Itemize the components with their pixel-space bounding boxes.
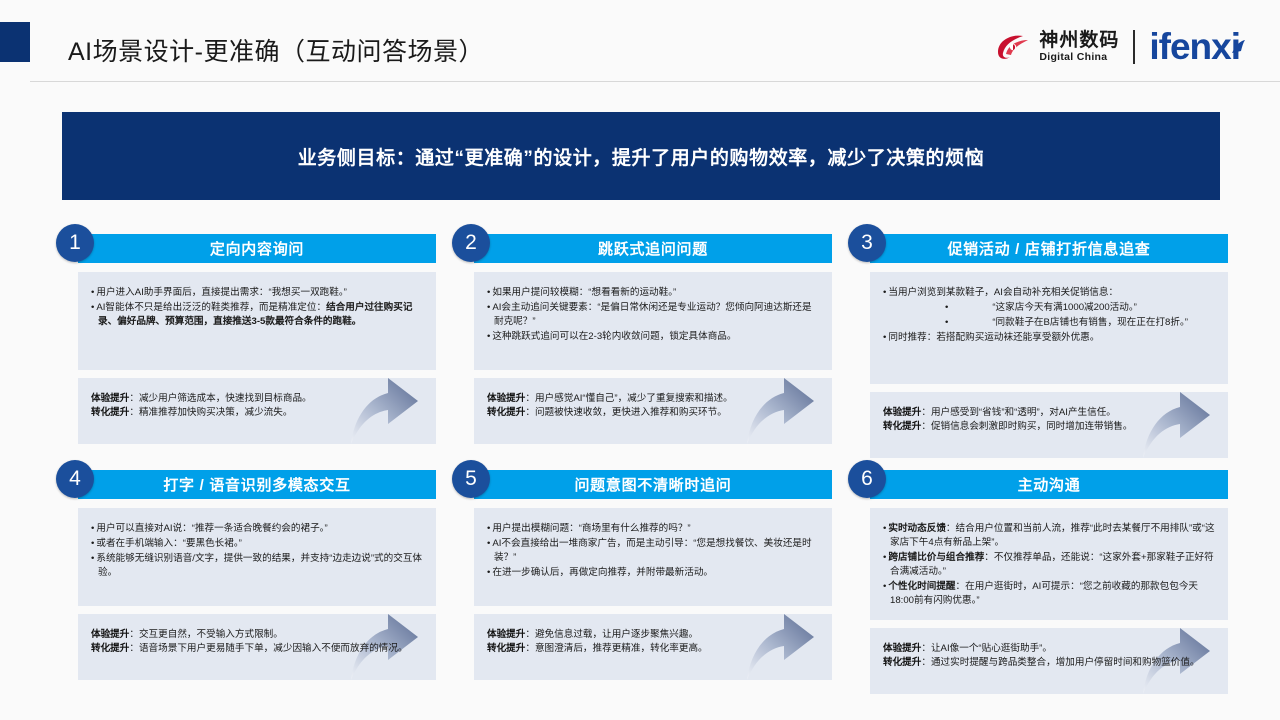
card-number-badge: 5 bbox=[452, 460, 490, 498]
scenario-card: 4打字 / 语音识别多模态交互用户可以直接对AI说：“推荐一条适合晚餐约会的裙子… bbox=[56, 460, 436, 692]
card-header-bar: 促销活动 / 店铺打折信息追查 bbox=[870, 234, 1228, 263]
card-impact-text: 体验提升：用户感受到“省钱”和“透明”，对AI产生信任。转化提升：促销信息会刺激… bbox=[883, 406, 1215, 435]
digital-china-cn-name: 神州数码 bbox=[1039, 31, 1119, 50]
ifenxi-wordmark: ifenxi bbox=[1149, 26, 1240, 67]
experience-uplift-value: ：用户感受到“省钱”和“透明”，对AI产生信任。 bbox=[921, 407, 1116, 418]
conversion-uplift-label: 转化提升 bbox=[883, 421, 921, 432]
card-header-bar: 问题意图不清晰时追问 bbox=[474, 470, 832, 499]
card-detail-box: 用户可以直接对AI说：“推荐一条适合晚餐约会的裙子。”或者在手机端输入：“要黑色… bbox=[78, 508, 436, 606]
card-impact-box: 体验提升：减少用户筛选成本，快速找到目标商品。转化提升：精准推荐加快购买决策，减… bbox=[78, 378, 436, 444]
conversion-uplift-value: ：语音场景下用户更易随手下单，减少因输入不便而放弃的情况。 bbox=[129, 643, 407, 654]
card-bullet-item: “这家店今天有满1000减200活动。” bbox=[883, 301, 1215, 315]
card-header-bar: 打字 / 语音识别多模态交互 bbox=[78, 470, 436, 499]
card-impact-box: 体验提升：避免信息过载，让用户逐步聚焦兴趣。转化提升：意图澄清后，推荐更精准，转… bbox=[474, 614, 832, 680]
card-detail-box: 用户提出模糊问题：“商场里有什么推荐的吗？”AI不会直接给出一堆商家广告，而是主… bbox=[474, 508, 832, 606]
scenario-card: 5问题意图不清晰时追问用户提出模糊问题：“商场里有什么推荐的吗？”AI不会直接给… bbox=[452, 460, 832, 692]
conversion-uplift-row: 转化提升：问题被快速收敛，更快进入推荐和购买环节。 bbox=[487, 406, 819, 420]
conversion-uplift-label: 转化提升 bbox=[487, 643, 525, 654]
experience-uplift-label: 体验提升 bbox=[883, 643, 921, 654]
card-bullet-list: 实时动态反馈：结合用户位置和当前人流，推荐“此时去某餐厅不用排队”或“这家店下午… bbox=[883, 522, 1215, 607]
card-bullet-list: 如果用户提问较模糊：“想看看新的运动鞋。”AI会主动追问关键要素：“是偏日常休闲… bbox=[487, 286, 819, 344]
objective-banner-text: 业务侧目标：通过“更准确”的设计，提升了用户的购物效率，减少了决策的烦恼 bbox=[298, 143, 985, 170]
card-impact-box: 体验提升：用户感觉AI“懂自己”，减少了重复搜索和描述。转化提升：问题被快速收敛… bbox=[474, 378, 832, 444]
experience-uplift-row: 体验提升：减少用户筛选成本，快速找到目标商品。 bbox=[91, 392, 423, 406]
conversion-uplift-label: 转化提升 bbox=[883, 657, 921, 668]
ifenxi-arrow-icon bbox=[1230, 24, 1246, 61]
card-bullet-item: 用户可以直接对AI说：“推荐一条适合晚餐约会的裙子。” bbox=[91, 522, 423, 536]
card-title: 定向内容询问 bbox=[210, 238, 304, 259]
experience-uplift-label: 体验提升 bbox=[487, 393, 525, 404]
card-impact-text: 体验提升：让AI像一个“贴心逛街助手”。转化提升：通过实时提醒与跨品类整合，增加… bbox=[883, 642, 1215, 671]
card-detail-box: 当用户浏览到某款鞋子，AI会自动补充相关促销信息：“这家店今天有满1000减20… bbox=[870, 272, 1228, 384]
card-bullet-item: 用户提出模糊问题：“商场里有什么推荐的吗？” bbox=[487, 522, 819, 536]
conversion-uplift-label: 转化提升 bbox=[487, 407, 525, 418]
conversion-uplift-value: ：通过实时提醒与跨品类整合，增加用户停留时间和购物篮价值。 bbox=[921, 657, 1199, 668]
page-header: AI场景设计-更准确（互动问答场景） 神州数码 Digital China if… bbox=[0, 0, 1280, 84]
experience-uplift-value: ：减少用户筛选成本，快速找到目标商品。 bbox=[129, 393, 311, 404]
card-bullet-item: 个性化时间提醒：在用户逛街时，AI可提示：“您之前收藏的那款包包今天18:00前… bbox=[883, 580, 1215, 608]
card-bullet-list: 用户进入AI助手界面后，直接提出需求：“我想买一双跑鞋。”AI智能体不只是给出泛… bbox=[91, 286, 423, 329]
scenario-card-grid: 1定向内容询问用户进入AI助手界面后，直接提出需求：“我想买一双跑鞋。”AI智能… bbox=[56, 224, 1228, 692]
card-bullet-list: 当用户浏览到某款鞋子，AI会自动补充相关促销信息：“这家店今天有满1000减20… bbox=[883, 286, 1215, 345]
card-impact-text: 体验提升：用户感觉AI“懂自己”，减少了重复搜索和描述。转化提升：问题被快速收敛… bbox=[487, 392, 819, 421]
card-number-badge: 2 bbox=[452, 224, 490, 262]
card-bullet-item: 同时推荐：若搭配购买运动袜还能享受额外优惠。 bbox=[883, 331, 1215, 345]
card-bullet-item: 实时动态反馈：结合用户位置和当前人流，推荐“此时去某餐厅不用排队”或“这家店下午… bbox=[883, 522, 1215, 550]
card-bullet-item: AI会主动追问关键要素：“是偏日常休闲还是专业运动？您倾向阿迪达斯还是耐克呢？” bbox=[487, 301, 819, 329]
scenario-card: 6主动沟通实时动态反馈：结合用户位置和当前人流，推荐“此时去某餐厅不用排队”或“… bbox=[848, 460, 1228, 692]
experience-uplift-value: ：避免信息过载，让用户逐步聚焦兴趣。 bbox=[525, 629, 698, 640]
card-number-badge: 4 bbox=[56, 460, 94, 498]
conversion-uplift-value: ：意图澄清后，推荐更精准，转化率更高。 bbox=[525, 643, 707, 654]
card-bullet-item: 跨店铺比价与组合推荐：不仅推荐单品，还能说：“这家外套+那家鞋子正好符合满减活动… bbox=[883, 551, 1215, 579]
card-detail-box: 用户进入AI助手界面后，直接提出需求：“我想买一双跑鞋。”AI智能体不只是给出泛… bbox=[78, 272, 436, 370]
logo-group: 神州数码 Digital China ifenxi bbox=[994, 28, 1244, 65]
card-title: 打字 / 语音识别多模态交互 bbox=[163, 474, 350, 495]
card-impact-text: 体验提升：交互更自然，不受输入方式限制。转化提升：语音场景下用户更易随手下单，减… bbox=[91, 628, 423, 657]
conversion-uplift-row: 转化提升：意图澄清后，推荐更精准，转化率更高。 bbox=[487, 642, 819, 656]
experience-uplift-row: 体验提升：用户感觉AI“懂自己”，减少了重复搜索和描述。 bbox=[487, 392, 819, 406]
card-impact-box: 体验提升：让AI像一个“贴心逛街助手”。转化提升：通过实时提醒与跨品类整合，增加… bbox=[870, 628, 1228, 694]
experience-uplift-label: 体验提升 bbox=[883, 407, 921, 418]
digital-china-logo: 神州数码 Digital China bbox=[994, 31, 1119, 63]
card-bullet-item: AI不会直接给出一堆商家广告，而是主动引导：“您是想找餐饮、美妆还是时装？” bbox=[487, 537, 819, 565]
card-impact-text: 体验提升：避免信息过载，让用户逐步聚焦兴趣。转化提升：意图澄清后，推荐更精准，转… bbox=[487, 628, 819, 657]
card-impact-box: 体验提升：用户感受到“省钱”和“透明”，对AI产生信任。转化提升：促销信息会刺激… bbox=[870, 392, 1228, 458]
conversion-uplift-row: 转化提升：促销信息会刺激即时购买，同时增加连带销售。 bbox=[883, 420, 1215, 434]
card-header-bar: 跳跃式追问问题 bbox=[474, 234, 832, 263]
experience-uplift-label: 体验提升 bbox=[91, 629, 129, 640]
scenario-card: 2跳跃式追问问题如果用户提问较模糊：“想看看新的运动鞋。”AI会主动追问关键要素… bbox=[452, 224, 832, 456]
scenario-card: 3促销活动 / 店铺打折信息追查当用户浏览到某款鞋子，AI会自动补充相关促销信息… bbox=[848, 224, 1228, 456]
card-header-bar: 主动沟通 bbox=[870, 470, 1228, 499]
header-accent-bar bbox=[0, 22, 30, 62]
digital-china-swoosh-icon bbox=[994, 32, 1032, 62]
card-detail-box: 实时动态反馈：结合用户位置和当前人流，推荐“此时去某餐厅不用排队”或“这家店下午… bbox=[870, 508, 1228, 620]
card-impact-text: 体验提升：减少用户筛选成本，快速找到目标商品。转化提升：精准推荐加快购买决策，减… bbox=[91, 392, 423, 421]
card-bullet-item: AI智能体不只是给出泛泛的鞋类推荐，而是精准定位：结合用户过往购买记录、偏好品牌… bbox=[91, 301, 423, 329]
card-title: 主动沟通 bbox=[1018, 474, 1081, 495]
card-bullet-item: 当用户浏览到某款鞋子，AI会自动补充相关促销信息： bbox=[883, 286, 1215, 300]
card-title: 问题意图不清晰时追问 bbox=[574, 474, 731, 495]
digital-china-en-name: Digital China bbox=[1039, 52, 1119, 63]
card-number-badge: 6 bbox=[848, 460, 886, 498]
card-number-badge: 3 bbox=[848, 224, 886, 262]
objective-banner: 业务侧目标：通过“更准确”的设计，提升了用户的购物效率，减少了决策的烦恼 bbox=[62, 112, 1220, 200]
experience-uplift-value: ：交互更自然，不受输入方式限制。 bbox=[129, 629, 283, 640]
conversion-uplift-label: 转化提升 bbox=[91, 407, 129, 418]
conversion-uplift-row: 转化提升：语音场景下用户更易随手下单，减少因输入不便而放弃的情况。 bbox=[91, 642, 423, 656]
card-bullet-item: “同款鞋子在B店铺也有销售，现在正在打8折。” bbox=[883, 316, 1215, 330]
experience-uplift-row: 体验提升：避免信息过载，让用户逐步聚焦兴趣。 bbox=[487, 628, 819, 642]
card-detail-box: 如果用户提问较模糊：“想看看新的运动鞋。”AI会主动追问关键要素：“是偏日常休闲… bbox=[474, 272, 832, 370]
card-bullet-item: 如果用户提问较模糊：“想看看新的运动鞋。” bbox=[487, 286, 819, 300]
card-bullet-list: 用户提出模糊问题：“商场里有什么推荐的吗？”AI不会直接给出一堆商家广告，而是主… bbox=[487, 522, 819, 580]
card-impact-box: 体验提升：交互更自然，不受输入方式限制。转化提升：语音场景下用户更易随手下单，减… bbox=[78, 614, 436, 680]
scenario-card: 1定向内容询问用户进入AI助手界面后，直接提出需求：“我想买一双跑鞋。”AI智能… bbox=[56, 224, 436, 456]
digital-china-wordmark: 神州数码 Digital China bbox=[1039, 31, 1119, 63]
header-divider bbox=[30, 81, 1280, 82]
experience-uplift-label: 体验提升 bbox=[487, 629, 525, 640]
card-bullet-item: 用户进入AI助手界面后，直接提出需求：“我想买一双跑鞋。” bbox=[91, 286, 423, 300]
card-title: 跳跃式追问问题 bbox=[598, 238, 708, 259]
conversion-uplift-row: 转化提升：通过实时提醒与跨品类整合，增加用户停留时间和购物篮价值。 bbox=[883, 656, 1215, 670]
card-title: 促销活动 / 店铺打折信息追查 bbox=[947, 238, 1150, 259]
card-header-bar: 定向内容询问 bbox=[78, 234, 436, 263]
card-bullet-list: 用户可以直接对AI说：“推荐一条适合晚餐约会的裙子。”或者在手机端输入：“要黑色… bbox=[91, 522, 423, 580]
conversion-uplift-value: ：促销信息会刺激即时购买，同时增加连带销售。 bbox=[921, 421, 1132, 432]
conversion-uplift-label: 转化提升 bbox=[91, 643, 129, 654]
experience-uplift-value: ：让AI像一个“贴心逛街助手”。 bbox=[921, 643, 1052, 654]
experience-uplift-row: 体验提升：交互更自然，不受输入方式限制。 bbox=[91, 628, 423, 642]
card-number-badge: 1 bbox=[56, 224, 94, 262]
conversion-uplift-value: ：问题被快速收敛，更快进入推荐和购买环节。 bbox=[525, 407, 726, 418]
experience-uplift-value: ：用户感觉AI“懂自己”，减少了重复搜索和描述。 bbox=[525, 393, 732, 404]
ifenxi-logo: ifenxi bbox=[1149, 28, 1244, 65]
experience-uplift-row: 体验提升：用户感受到“省钱”和“透明”，对AI产生信任。 bbox=[883, 406, 1215, 420]
card-bullet-item: 或者在手机端输入：“要黑色长裙。” bbox=[91, 537, 423, 551]
card-bullet-item: 在进一步确认后，再做定向推荐，并附带最新活动。 bbox=[487, 566, 819, 580]
conversion-uplift-value: ：精准推荐加快购买决策，减少流失。 bbox=[129, 407, 292, 418]
logo-separator bbox=[1133, 30, 1135, 64]
page-title: AI场景设计-更准确（互动问答场景） bbox=[68, 32, 484, 68]
card-bullet-item: 系统能够无缝识别语音/文字，提供一致的结果，并支持“边走边说”式的交互体验。 bbox=[91, 552, 423, 580]
card-bullet-item: 这种跳跃式追问可以在2-3轮内收敛问题，锁定具体商品。 bbox=[487, 330, 819, 344]
conversion-uplift-row: 转化提升：精准推荐加快购买决策，减少流失。 bbox=[91, 406, 423, 420]
experience-uplift-label: 体验提升 bbox=[91, 393, 129, 404]
experience-uplift-row: 体验提升：让AI像一个“贴心逛街助手”。 bbox=[883, 642, 1215, 656]
